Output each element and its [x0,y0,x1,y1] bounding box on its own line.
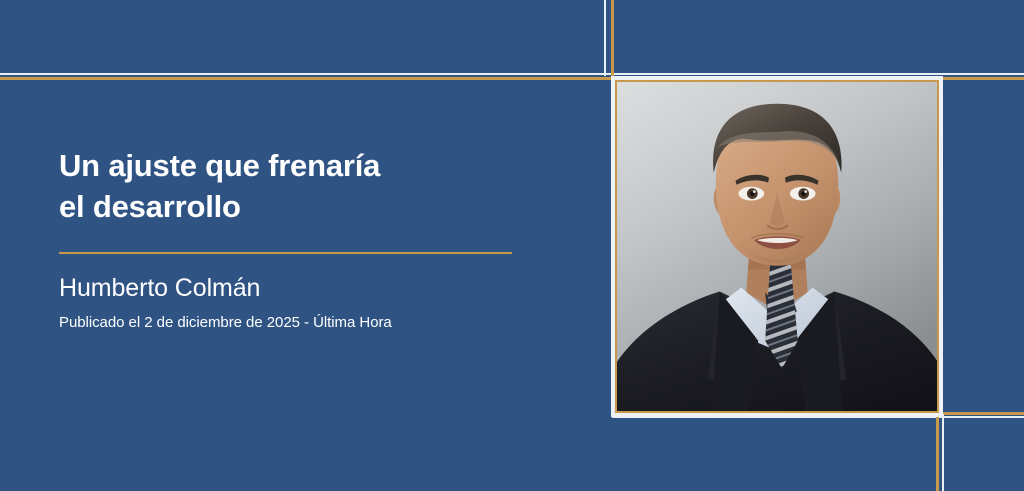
article-header-card: Un ajuste que frenaría el desarrollo Hum… [0,0,1024,491]
article-headline: Un ajuste que frenaría el desarrollo [59,145,559,227]
lower-vertical-gold-rule [936,414,939,491]
top-white-rule [0,73,1024,75]
portrait-inner-border [615,80,939,413]
portrait-photo [617,82,937,411]
upper-vertical-white-rule [604,0,606,76]
gold-divider [59,252,512,254]
portrait-illustration [617,82,937,411]
upper-vertical-gold-rule [611,0,614,80]
lower-vertical-white-rule [942,414,944,491]
article-text-block: Un ajuste que frenaría el desarrollo Hum… [59,145,559,332]
article-author: Humberto Colmán [59,275,559,303]
portrait-frame [611,76,943,417]
article-byline: Publicado el 2 de diciembre de 2025 - Úl… [59,314,559,332]
